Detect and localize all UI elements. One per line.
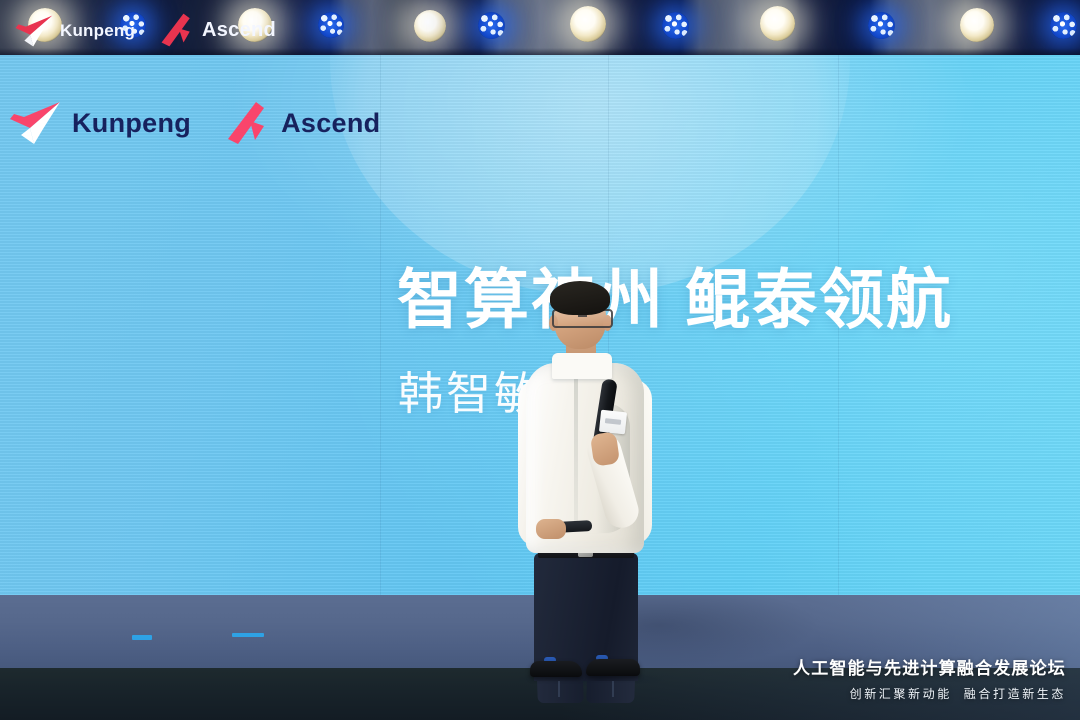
event-slogan-right: 融合打造新生态 xyxy=(964,687,1066,701)
floor-tape-mark xyxy=(132,635,152,640)
banner-logo-ascend: Ascend xyxy=(160,12,276,48)
wall-logo-kunpeng: Kunpeng xyxy=(8,100,191,146)
lighting-truss: Kunpeng Ascend xyxy=(0,0,1080,58)
kunpeng-bird-mark-icon xyxy=(14,14,54,48)
speaker-left-hand xyxy=(536,519,566,539)
wall-brand-lockup: Kunpeng Ascend xyxy=(8,100,380,146)
event-watermark: 人工智能与先进计算融合发展论坛 创新汇聚新动能融合打造新生态 xyxy=(793,654,1066,702)
spotlight-icon xyxy=(960,8,994,42)
wall-logo-kunpeng-label: Kunpeng xyxy=(72,108,191,139)
banner-logo-ascend-label: Ascend xyxy=(202,19,276,42)
spotlight-icon xyxy=(760,6,795,41)
speaker-shirt-placket xyxy=(574,375,578,525)
kunpeng-bird-mark-icon xyxy=(8,100,62,146)
microphone-flag xyxy=(599,410,627,435)
led-wash-light-icon xyxy=(868,12,895,39)
wall-logo-ascend-label: Ascend xyxy=(281,108,380,139)
banner-logo-kunpeng-label: Kunpeng xyxy=(60,21,135,41)
floor-tape-mark xyxy=(232,633,264,637)
event-slogan-left: 创新汇聚新动能 xyxy=(850,687,952,701)
event-title: 人工智能与先进计算融合发展论坛 xyxy=(793,654,1066,679)
led-wash-light-icon xyxy=(478,12,505,39)
led-wash-light-icon xyxy=(1050,12,1077,39)
wall-headline-part2: 鲲泰领航 xyxy=(685,263,953,338)
ascend-a-mark-icon xyxy=(225,101,271,145)
speaker-right-hand xyxy=(590,431,620,466)
spotlight-icon xyxy=(414,10,446,42)
led-wash-light-icon xyxy=(318,12,344,38)
banner-logo-kunpeng: Kunpeng xyxy=(14,14,135,48)
event-slogan: 创新汇聚新动能融合打造新生态 xyxy=(793,685,1066,702)
led-wash-light-icon xyxy=(662,12,689,39)
speaker-shirt-collar xyxy=(552,353,612,379)
speaker-left-shoe xyxy=(530,661,582,677)
wall-logo-ascend: Ascend xyxy=(225,101,380,145)
stage-photo: Kunpeng Ascend Kunpeng xyxy=(0,0,1080,720)
speaker-hair xyxy=(550,281,610,315)
spotlight-icon xyxy=(570,6,606,42)
speaker-figure xyxy=(500,283,680,673)
speaker-right-shoe xyxy=(586,659,640,676)
ascend-a-mark-icon xyxy=(160,12,196,48)
wall-glow-arc xyxy=(330,55,850,295)
